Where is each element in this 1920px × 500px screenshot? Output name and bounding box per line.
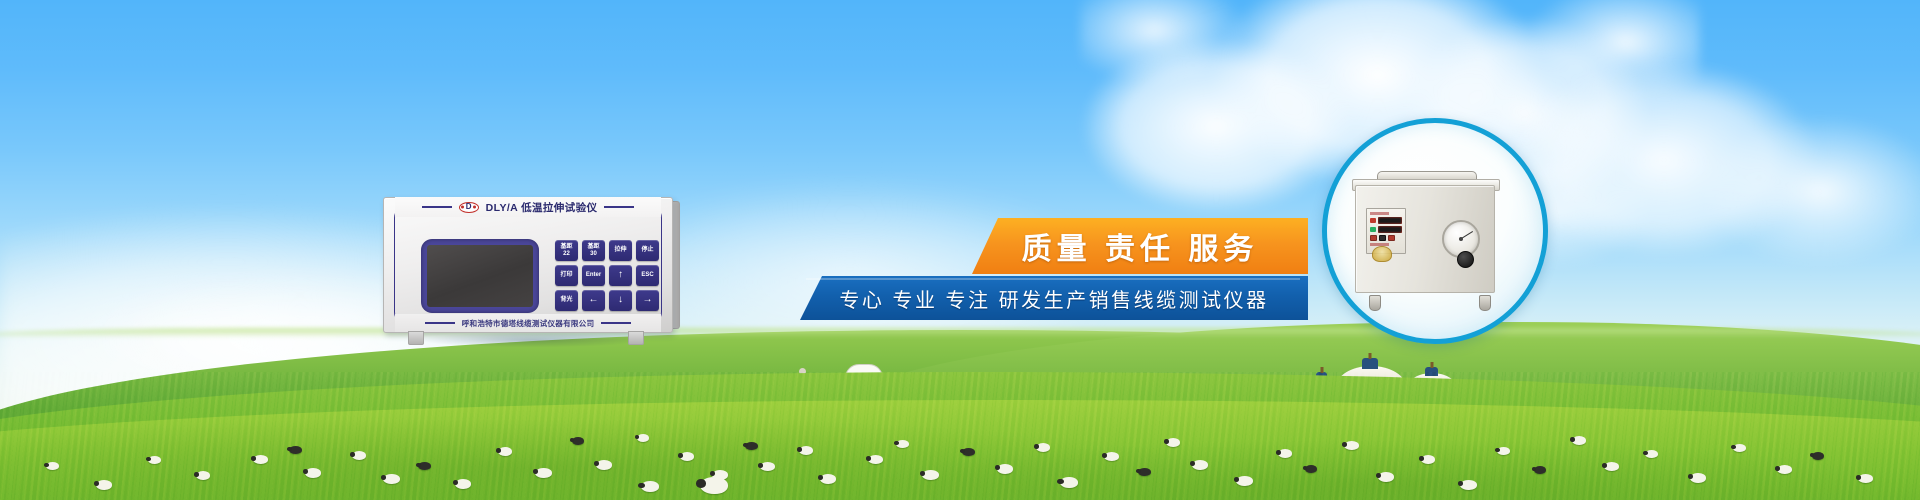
key-stop[interactable]: 停止 [636, 240, 659, 261]
panel-display-1 [1378, 217, 1402, 224]
key-line-1: 停止 [641, 247, 653, 253]
key-stretch[interactable]: 拉伸 [609, 240, 632, 261]
footer-rule-left [425, 322, 455, 324]
subline-band: 专心 专业 专注 研发生产销售线缆测试仪器 [800, 276, 1308, 320]
key-arrow-up[interactable]: ↑ [609, 265, 632, 286]
brand-logo-icon: D [459, 202, 479, 213]
device-model-title: DLY/A 低温拉伸试验仪 [486, 200, 598, 215]
chamber-valve-knob [1457, 251, 1474, 268]
footer-rule-right [601, 322, 631, 324]
key-line-1: ESC [641, 272, 653, 278]
header-rule-right [604, 206, 634, 208]
header-rule-left [422, 206, 452, 208]
device-footer: 呼和浩特市德塔线缆测试仪器有限公司 [395, 314, 661, 332]
key-esc[interactable]: ESC [636, 265, 659, 286]
panel-led-green [1370, 227, 1376, 232]
key-line-2: 22 [563, 251, 570, 257]
product-test-chamber [1355, 175, 1505, 303]
key-line-1: ← [589, 295, 599, 306]
subline-text: 专心 专业 专注 研发生产销售线缆测试仪器 [839, 284, 1268, 313]
key-line-1: 拉伸 [614, 247, 626, 253]
panel-button-red-2 [1388, 235, 1395, 241]
chamber-caster-right [1479, 295, 1491, 311]
panel-display-2 [1378, 226, 1402, 233]
device-lcd-screen[interactable] [421, 239, 539, 313]
device-leg-left [408, 331, 424, 345]
key-line-1: Enter [586, 272, 601, 278]
chamber-caster-left [1369, 295, 1381, 311]
device-case: D DLY/A 低温拉伸试验仪 基距 22 基距 30 [383, 197, 673, 333]
logo-letter: D [466, 203, 472, 211]
key-arrow-down[interactable]: ↓ [609, 290, 632, 311]
panel-button-red [1370, 235, 1377, 241]
key-line-1: ↑ [618, 270, 623, 281]
product-circle-showcase[interactable] [1322, 118, 1548, 344]
key-line-1: ↓ [618, 295, 623, 306]
key-backlight[interactable]: 背光 [555, 290, 578, 311]
panel-display-row-2 [1370, 226, 1402, 233]
product-device-dly-a[interactable]: D DLY/A 低温拉伸试验仪 基距 22 基距 30 [383, 197, 673, 333]
sheep-flock [0, 0, 1920, 500]
key-print[interactable]: 打印 [555, 265, 578, 286]
device-face-outline: D DLY/A 低温拉伸试验仪 基距 22 基距 30 [394, 206, 662, 324]
panel-button-row [1370, 235, 1402, 241]
chamber-body [1355, 185, 1495, 293]
panel-button-black [1379, 235, 1386, 241]
hero-banner: D DLY/A 低温拉伸试验仪 基距 22 基距 30 [0, 0, 1920, 500]
panel-display-row-1 [1370, 217, 1402, 224]
key-line-1: → [643, 295, 653, 306]
panel-label-strip-bottom [1370, 243, 1402, 246]
key-line-1: 打印 [560, 272, 572, 278]
key-base-30[interactable]: 基距 30 [582, 240, 605, 261]
panel-label-strip [1370, 212, 1402, 215]
device-company-name: 呼和浩特市德塔线缆测试仪器有限公司 [462, 318, 595, 329]
key-base-22[interactable]: 基距 22 [555, 240, 578, 261]
circle-ring [1322, 118, 1548, 344]
key-arrow-left[interactable]: ← [582, 290, 605, 311]
lcd-surface [427, 245, 533, 307]
device-header: D DLY/A 低温拉伸试验仪 [395, 197, 661, 217]
key-arrow-right[interactable]: → [636, 290, 659, 311]
headline-band: 质量 责任 服务 [972, 218, 1308, 274]
headline-text: 质量 责任 服务 [1022, 224, 1259, 268]
key-line-1: 背光 [560, 297, 572, 303]
panel-led-red [1370, 218, 1376, 223]
key-enter[interactable]: Enter [582, 265, 605, 286]
key-line-2: 30 [590, 251, 597, 257]
device-leg-right [628, 331, 644, 345]
chamber-brand-badge [1372, 246, 1392, 262]
device-keypad[interactable]: 基距 22 基距 30 拉伸 停止 打印 [555, 240, 661, 314]
